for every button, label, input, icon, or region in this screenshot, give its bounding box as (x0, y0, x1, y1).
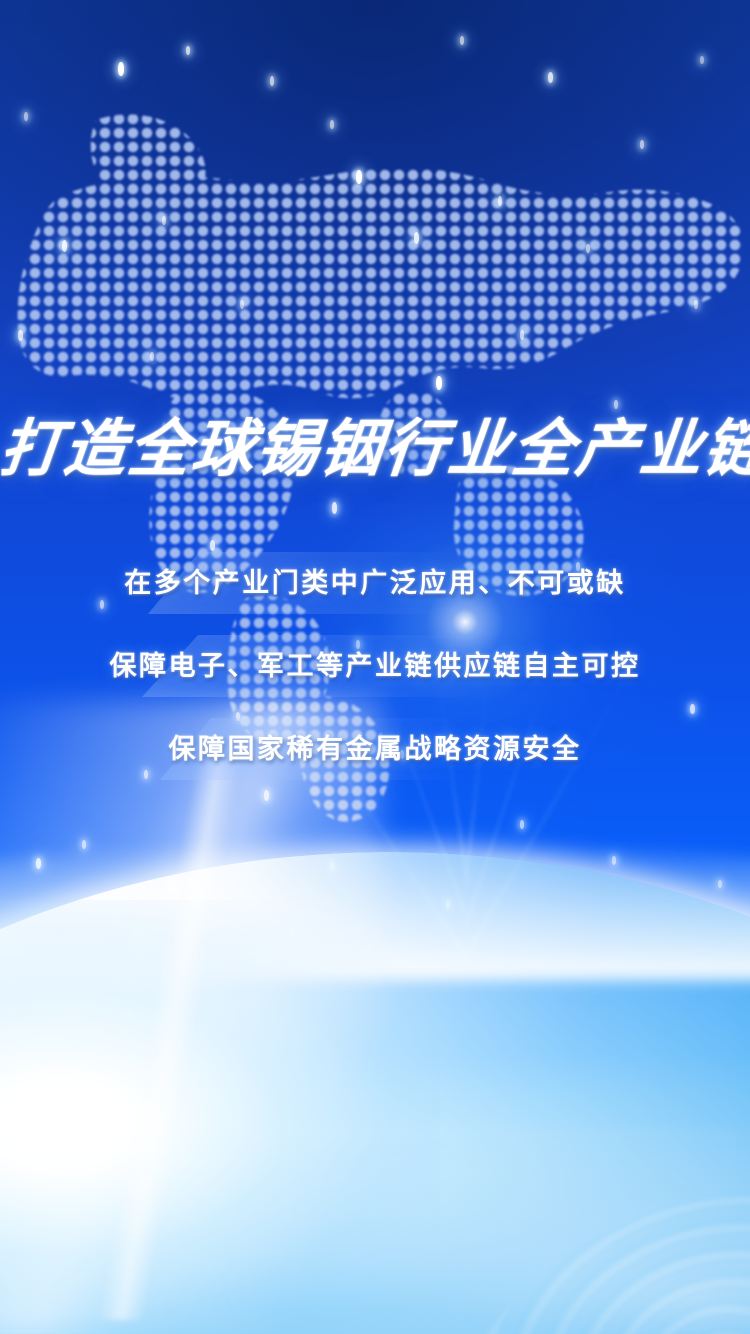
bullet-list: 在多个产业门类中广泛应用、不可或缺 保障电子、军工等产业链供应链自主可控 保障国… (0, 556, 750, 805)
page-title: 打造全球锡铟行业全产业链链主 (0, 419, 750, 481)
earth-sphere (0, 852, 750, 1334)
bullet-text-1: 在多个产业门类中广泛应用、不可或缺 (124, 561, 626, 600)
bullet-text-2: 保障电子、军工等产业链供应链自主可控 (110, 644, 641, 683)
poster-canvas: 打造全球锡铟行业全产业链链主 在多个产业门类中广泛应用、不可或缺 保障电子、军工… (0, 0, 750, 1334)
bullet-text-3: 保障国家稀有金属战略资源安全 (169, 727, 582, 766)
bullet-row-1: 在多个产业门类中广泛应用、不可或缺 (0, 556, 750, 604)
bullet-row-3: 保障国家稀有金属战略资源安全 (0, 722, 750, 770)
bullet-row-2: 保障电子、军工等产业链供应链自主可控 (0, 639, 750, 687)
